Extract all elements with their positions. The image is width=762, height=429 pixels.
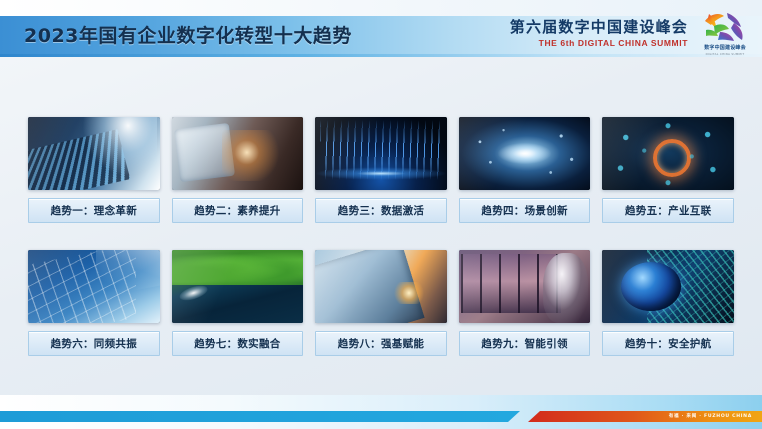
trend-label-box[interactable]: 趋势一：理念革新 [28,198,160,223]
summit-logo: 数字中国建设峰会 DIGITAL CHINA SUMMIT [696,10,754,60]
trend-label-box[interactable]: 趋势七：数实融合 [172,331,304,356]
infrastructure-sunrise-image [315,250,447,323]
trend-label-box[interactable]: 趋势三：数据激活 [315,198,447,223]
summit-logo-caption-cn: 数字中国建设峰会 [696,46,754,51]
trend-card[interactable]: 趋势九：智能引领 [459,250,591,356]
thumbnail-art [315,250,447,323]
trend-label-text: 趋势六：同频共振 [51,336,137,351]
keyboard-data-tunnel-image [28,117,160,190]
summit-logo-caption-en: DIGITAL CHINA SUMMIT [696,53,754,56]
trend-label-text: 趋势七：数实融合 [194,336,280,351]
thumbnail-art [459,250,591,323]
top-white-strip [0,0,762,16]
trend-card[interactable]: 趋势二：素养提升 [172,117,304,223]
cyber-security-globe-image [602,250,734,323]
trend-label-box[interactable]: 趋势四：场景创新 [459,198,591,223]
trend-label-box[interactable]: 趋势二：素养提升 [172,198,304,223]
engineer-tablet-image [172,117,304,190]
trend-label-box[interactable]: 趋势十：安全护航 [602,331,734,356]
footer-bar-blue-segment [0,411,520,422]
thumbnail-art [602,250,734,323]
trend-card[interactable]: 趋势八：强基赋能 [315,250,447,356]
industrial-iot-ring-image [602,117,734,190]
trend-label-text: 趋势五：产业互联 [625,203,711,218]
solar-panel-array-image [28,250,160,323]
blue-data-stream-image [315,117,447,190]
summit-name-cn: 第六届数字中国建设峰会 [510,20,688,35]
trend-card[interactable]: 趋势四：场景创新 [459,117,591,223]
green-forest-river-image [172,250,304,323]
trend-card[interactable]: 趋势七：数实融合 [172,250,304,356]
summit-logo-glyph-icon [700,10,750,44]
thumbnail-art [459,117,591,190]
summit-name-en: THE 6th DIGITAL CHINA SUMMIT [510,39,688,48]
robot-city-window-image [459,250,591,323]
trend-label-text: 趋势九：智能引领 [481,336,567,351]
trend-label-box[interactable]: 趋势五：产业互联 [602,198,734,223]
trend-label-text: 趋势一：理念革新 [51,203,137,218]
trend-card[interactable]: 趋势一：理念革新 [28,117,160,223]
trend-label-text: 趋势二：素养提升 [194,203,280,218]
trend-label-box[interactable]: 趋势九：智能引领 [459,331,591,356]
trend-label-box[interactable]: 趋势八：强基赋能 [315,331,447,356]
thumbnail-art [172,250,304,323]
trend-label-text: 趋势八：强基赋能 [338,336,424,351]
trend-card[interactable]: 趋势三：数据激活 [315,117,447,223]
trend-card[interactable]: 趋势十：安全护航 [602,250,734,356]
trend-label-text: 趋势三：数据激活 [338,203,424,218]
footer-color-bar: 有福 · 来闽 · FUZHOU CHINA [0,411,762,422]
page-title: 2023年国有企业数字化转型十大趋势 [24,23,352,49]
trend-card[interactable]: 趋势六：同频共振 [28,250,160,356]
trend-card[interactable]: 趋势五：产业互联 [602,117,734,223]
thumbnail-art [28,250,160,323]
thumbnail-art [315,117,447,190]
summit-logo-caption: 数字中国建设峰会 DIGITAL CHINA SUMMIT [696,46,754,56]
network-burst-image [459,117,591,190]
footer-tagline: 有福 · 来闽 · FUZHOU CHINA [669,412,752,421]
trend-label-box[interactable]: 趋势六：同频共振 [28,331,160,356]
trend-card-grid: 趋势一：理念革新趋势二：素养提升趋势三：数据激活趋势四：场景创新趋势五：产业互联… [28,117,734,356]
thumbnail-art [602,117,734,190]
thumbnail-art [28,117,160,190]
thumbnail-art [172,117,304,190]
slide-canvas: 2023年国有企业数字化转型十大趋势 第六届数字中国建设峰会 THE 6th D… [0,0,762,429]
trend-label-text: 趋势十：安全护航 [625,336,711,351]
trend-label-text: 趋势四：场景创新 [481,203,567,218]
summit-lockup: 第六届数字中国建设峰会 THE 6th DIGITAL CHINA SUMMIT [510,20,688,48]
